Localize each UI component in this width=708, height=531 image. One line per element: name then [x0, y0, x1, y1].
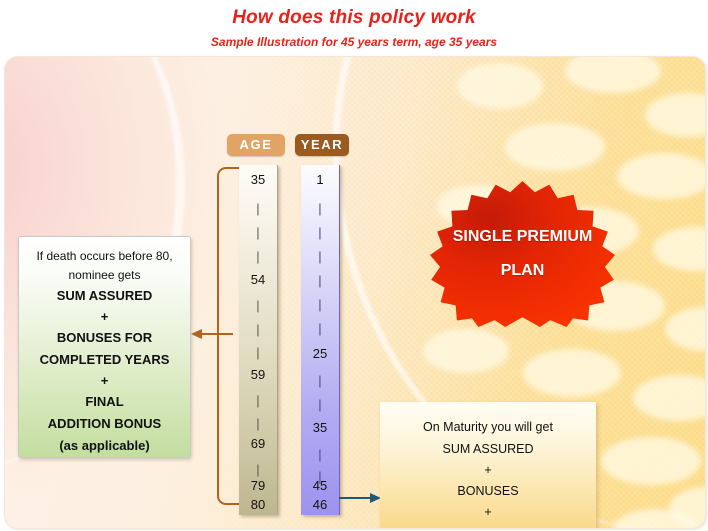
maturity-final-addition-bonus: FINAL ADDITION BONUS [380, 522, 596, 529]
age-dash: | [239, 346, 277, 359]
death-line-2: nominee gets [19, 266, 190, 285]
age-dash: | [239, 463, 277, 476]
age-tick: 54 [239, 273, 277, 286]
age-tick: 79 [239, 479, 277, 492]
maturity-benefit-box: On Maturity you will get SUM ASSURED + B… [380, 402, 596, 529]
age-dash: | [239, 226, 277, 239]
page-title: How does this policy work [0, 7, 708, 29]
age-dash: | [239, 250, 277, 263]
year-tick: 35 [301, 421, 339, 434]
year-tick: 25 [301, 347, 339, 360]
death-benefit-arrow-icon [191, 327, 233, 341]
year-tick: 1 [301, 173, 339, 186]
year-dash: | [301, 274, 339, 287]
year-dash: | [301, 250, 339, 263]
death-sum-assured: SUM ASSURED [19, 285, 190, 307]
maturity-bonuses: BONUSES [380, 480, 596, 502]
age-column-bar: 35 | | | 54 | | | 59 | | 69 | 79 80 [239, 165, 278, 515]
age-dash: | [239, 202, 277, 215]
year-dash: | [301, 202, 339, 215]
title-block: How does this policy work Sample Illustr… [0, 0, 708, 49]
death-bonuses-line-1: BONUSES FOR [19, 327, 190, 349]
diagram-panel: AGE YEAR 35 | | | 54 | | | 59 | | 69 | 7… [4, 56, 706, 529]
maturity-plus-2: + [380, 502, 596, 522]
age-tick: 80 [239, 498, 277, 511]
age-dash: | [239, 417, 277, 430]
single-premium-plan-starburst [410, 179, 635, 329]
age-tick: 59 [239, 368, 277, 381]
age-tick: 35 [239, 173, 277, 186]
maturity-sum-assured: SUM ASSURED [380, 438, 596, 460]
year-dash: | [301, 374, 339, 387]
death-applicable-note: (as applicable) [19, 435, 190, 457]
year-column-badge: YEAR [295, 134, 349, 156]
age-column-badge: AGE [227, 134, 285, 156]
age-tick: 69 [239, 437, 277, 450]
year-dash: | [301, 448, 339, 461]
death-final-line-1: FINAL [19, 391, 190, 413]
age-dash: | [239, 299, 277, 312]
maturity-plus-1: + [380, 460, 596, 480]
death-plus-1: + [19, 307, 190, 327]
age-dash: | [239, 394, 277, 407]
year-dash: | [301, 226, 339, 239]
page-subtitle: Sample Illustration for 45 years term, a… [0, 35, 708, 49]
year-tick: 45 [301, 479, 339, 492]
year-tick: 46 [301, 498, 339, 511]
year-dash: | [301, 322, 339, 335]
death-line-1: If death occurs before 80, [19, 247, 190, 266]
death-bonuses-line-2: COMPLETED YEARS [19, 349, 190, 371]
maturity-arrow-icon [339, 491, 381, 505]
year-column-bar: 1 | | | | | | 25 | | 35 | | 45 46 [301, 165, 340, 515]
year-dash: | [301, 298, 339, 311]
age-dash: | [239, 323, 277, 336]
year-dash: | [301, 398, 339, 411]
death-plus-2: + [19, 371, 190, 391]
death-benefit-box: If death occurs before 80, nominee gets … [18, 236, 191, 458]
death-final-line-2: ADDITION BONUS [19, 413, 190, 435]
maturity-line-1: On Maturity you will get [380, 416, 596, 438]
